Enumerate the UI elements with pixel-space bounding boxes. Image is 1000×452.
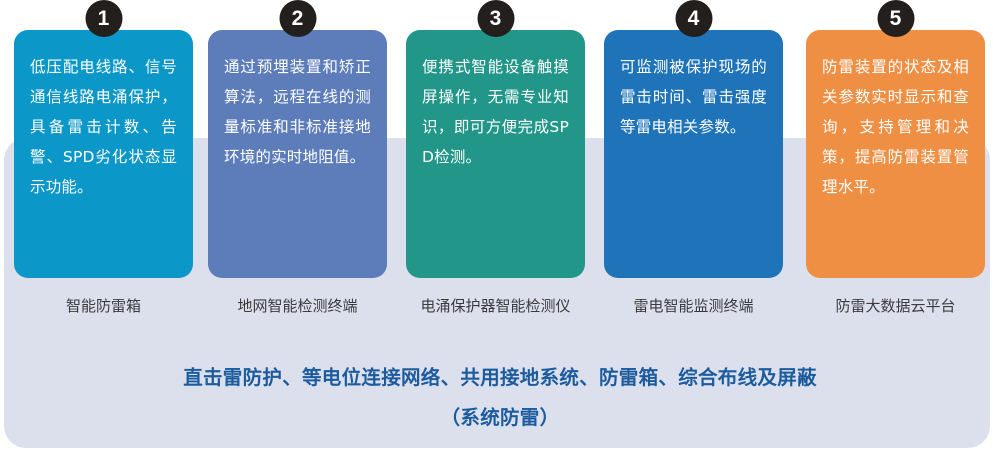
card-description-1: 低压配电线路、信号通信线路电涌保护，具备雷击计数、告警、SPD劣化状态显示功能。 xyxy=(30,52,177,202)
card-body-5[interactable]: 防雷装置的状态及相关参数实时显示和查询，支持管理和决策，提高防雷装置管理水平。 xyxy=(806,30,985,278)
card-number-badge-3: 3 xyxy=(477,0,514,37)
footer-summary: 直击雷防护、等电位连接网络、共用接地系统、防雷箱、综合布线及屏蔽 （系统防雷） xyxy=(0,358,1000,438)
card-body-4[interactable]: 可监测被保护现场的雷击时间、雷击强度等雷电相关参数。 xyxy=(604,30,783,278)
card-caption-2: 地网智能检测终端 xyxy=(194,296,401,316)
product-cards-row: 低压配电线路、信号通信线路电涌保护，具备雷击计数、告警、SPD劣化状态显示功能。… xyxy=(0,0,1000,330)
card-description-2: 通过预埋装置和矫正算法，远程在线的测量标准和非标准接地环境的实时地阻值。 xyxy=(224,52,371,172)
card-description-5: 防雷装置的状态及相关参数实时显示和查询，支持管理和决策，提高防雷装置管理水平。 xyxy=(822,52,969,202)
product-card-5[interactable]: 防雷装置的状态及相关参数实时显示和查询，支持管理和决策，提高防雷装置管理水平。 … xyxy=(806,0,985,330)
card-description-3: 便携式智能设备触摸屏操作，无需专业知识，即可方便完成SPD检测。 xyxy=(422,52,569,172)
card-caption-1: 智能防雷箱 xyxy=(0,296,207,316)
product-card-3[interactable]: 便携式智能设备触摸屏操作，无需专业知识，即可方便完成SPD检测。 3 电涌保护器… xyxy=(406,0,585,330)
card-caption-5: 防雷大数据云平台 xyxy=(792,296,999,316)
footer-line-1: 直击雷防护、等电位连接网络、共用接地系统、防雷箱、综合布线及屏蔽 xyxy=(0,358,1000,398)
footer-line-2: （系统防雷） xyxy=(0,398,1000,438)
infographic-stage: 低压配电线路、信号通信线路电涌保护，具备雷击计数、告警、SPD劣化状态显示功能。… xyxy=(0,0,1000,452)
card-description-4: 可监测被保护现场的雷击时间、雷击强度等雷电相关参数。 xyxy=(620,52,767,142)
card-number-badge-4: 4 xyxy=(675,0,712,37)
product-card-4[interactable]: 可监测被保护现场的雷击时间、雷击强度等雷电相关参数。 4 雷电智能监测终端 xyxy=(604,0,783,330)
card-number-badge-5: 5 xyxy=(877,0,914,37)
card-body-2[interactable]: 通过预埋装置和矫正算法，远程在线的测量标准和非标准接地环境的实时地阻值。 xyxy=(208,30,387,278)
card-body-3[interactable]: 便携式智能设备触摸屏操作，无需专业知识，即可方便完成SPD检测。 xyxy=(406,30,585,278)
product-card-2[interactable]: 通过预埋装置和矫正算法，远程在线的测量标准和非标准接地环境的实时地阻值。 2 地… xyxy=(208,0,387,330)
card-body-1[interactable]: 低压配电线路、信号通信线路电涌保护，具备雷击计数、告警、SPD劣化状态显示功能。 xyxy=(14,30,193,278)
product-card-1[interactable]: 低压配电线路、信号通信线路电涌保护，具备雷击计数、告警、SPD劣化状态显示功能。… xyxy=(14,0,193,330)
card-caption-4: 雷电智能监测终端 xyxy=(590,296,797,316)
card-caption-3: 电涌保护器智能检测仪 xyxy=(392,296,599,316)
card-number-badge-2: 2 xyxy=(279,0,316,37)
card-number-badge-1: 1 xyxy=(85,0,122,37)
